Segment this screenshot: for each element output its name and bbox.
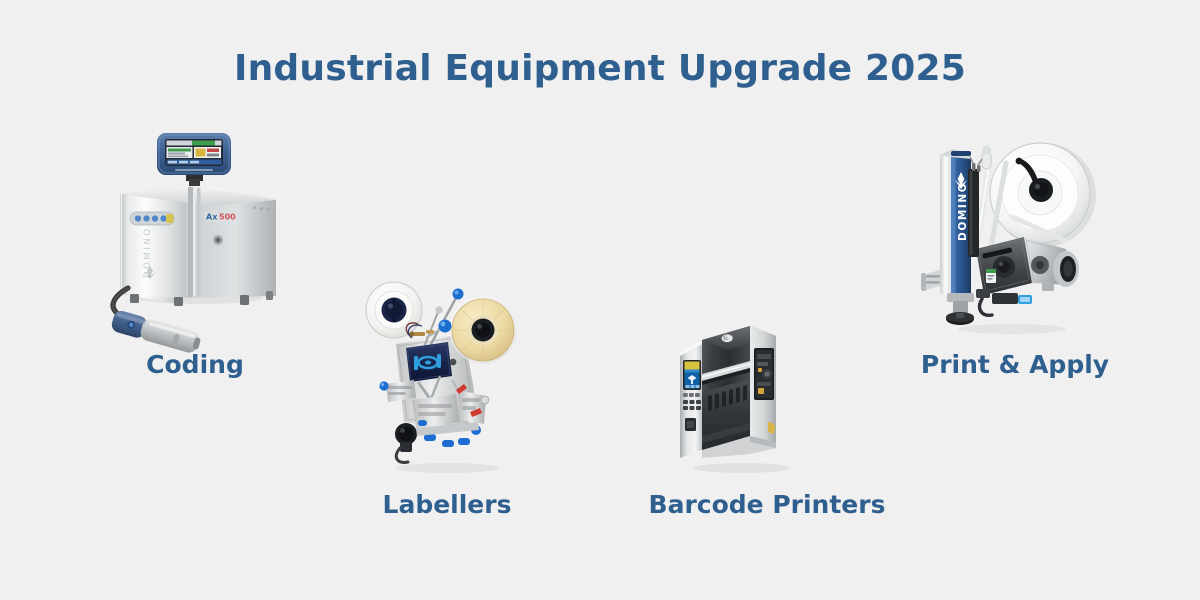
- poster-canvas: Industrial Equipment Upgrade 2025: [0, 0, 1200, 600]
- print-and-apply-unit-icon: DOMINO: [920, 133, 1100, 336]
- product-label-barcode-printers: Barcode Printers: [632, 492, 902, 517]
- svg-text:DOMINO: DOMINO: [957, 182, 969, 241]
- thermal-barcode-printer-icon: [672, 318, 812, 478]
- svg-text:500: 500: [219, 213, 236, 222]
- product-label-coding: Coding: [95, 352, 295, 377]
- page-title: Industrial Equipment Upgrade 2025: [0, 48, 1200, 89]
- product-label-labellers: Labellers: [357, 492, 537, 517]
- svg-text:Ax: Ax: [206, 213, 218, 222]
- product-label-print-and-apply: Print & Apply: [910, 352, 1120, 377]
- label-applicator-icon: [352, 272, 542, 477]
- model-badge: Ax 500: [204, 211, 236, 222]
- continuous-inkjet-printer-icon: Ax 500 DOMINO: [100, 128, 300, 343]
